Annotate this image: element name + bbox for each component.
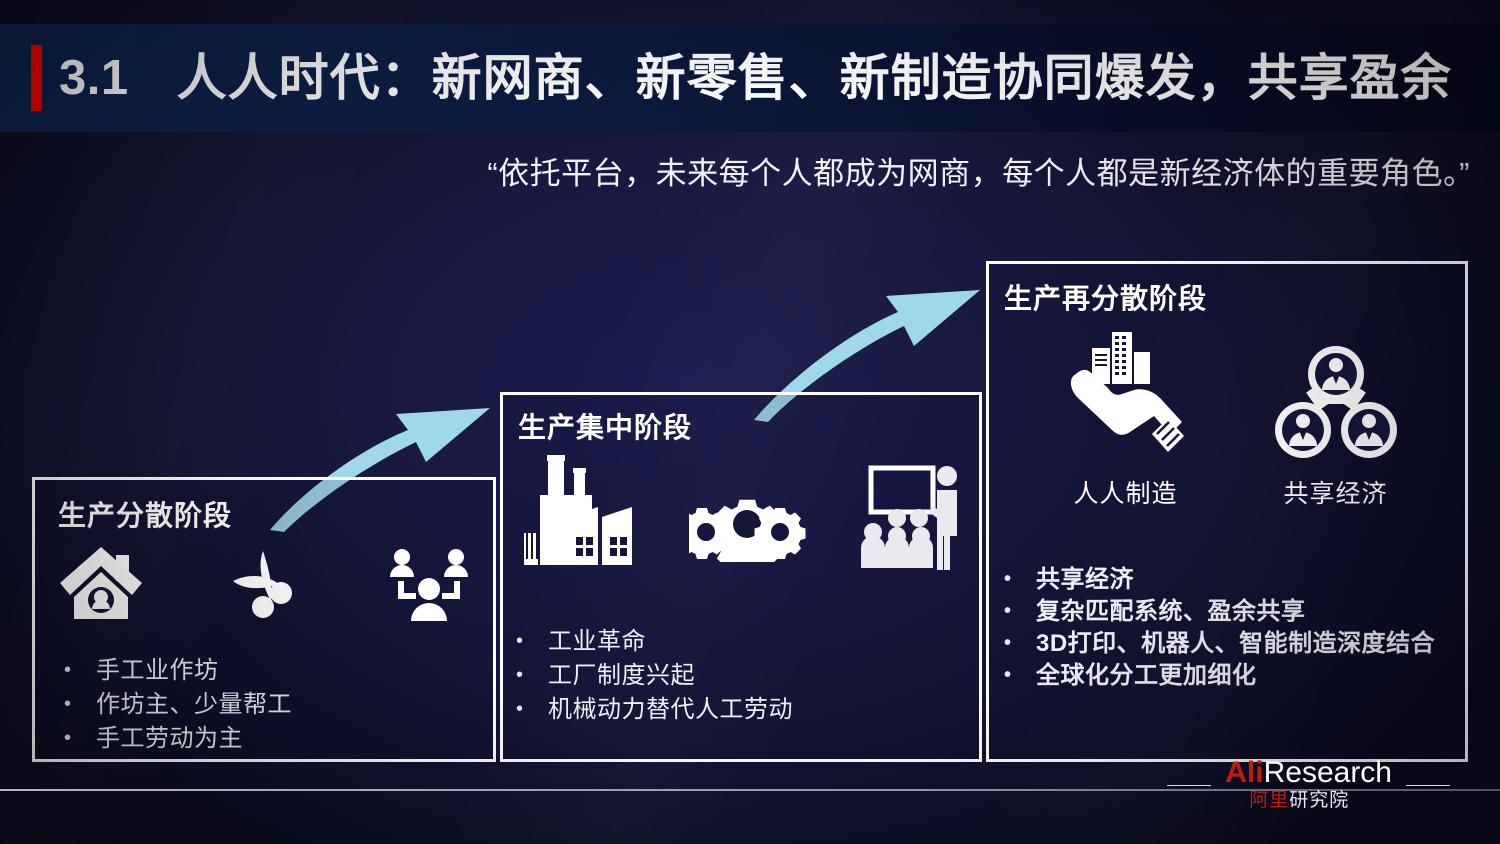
list-item: 手工业作坊 [58,654,292,688]
subtitle-quote: “依托平台，未来每个人都成为网商，每个人都是新经济体的重要角色。” [487,148,1470,193]
stage-panel-1-bullets: 手工业作坊 作坊主、少量帮工 手工劳动为主 [58,654,292,756]
logo-english: AliResearch [1225,757,1392,788]
title-row: 3.1 人人时代：新网商、新零售、新制造协同爆发，共享盈余 [0,24,1500,132]
scissors-icon [229,545,303,623]
gears-icon [689,486,807,562]
list-item: 手工劳动为主 [58,722,292,756]
section-number: 3.1 [59,54,129,103]
icon-caption: 人人制造 [1073,474,1177,510]
logo-rule-left [1167,785,1211,786]
list-item: 3D打印、机器人、智能制造深度结合 [998,628,1435,660]
logo-ali-text: Ali [1225,756,1263,789]
list-item: 复杂匹配系统、盈余共享 [998,596,1435,628]
logo-ali-cn-text: 阿里 [1249,790,1289,811]
red-accent-bar [31,45,42,111]
list-item: 工厂制度兴起 [510,659,793,693]
people-network-icon: 共享经济 [1275,344,1397,510]
stage-panel-1-icons [58,545,470,623]
list-item: 全球化分工更加细化 [998,660,1435,692]
logo-chinese: 阿里研究院 [1249,789,1392,813]
icon-caption: 共享经济 [1283,474,1387,510]
small-team-icon [388,545,470,623]
logo-rule-right [1406,785,1450,786]
stage-panel-2-bullets: 工业革命 工厂制度兴起 机械动力替代人工劳动 [510,625,793,727]
stage-panel-1-title: 生产分散阶段 [58,494,232,534]
slide-root: 3.1 人人时代：新网商、新零售、新制造协同爆发，共享盈余 “依托平台，未来每个… [0,0,1500,844]
training-presentation-icon [857,462,965,570]
stage-panel-2-icons [520,455,965,570]
logo-research-cn-text: 研究院 [1289,790,1349,811]
logo-text: AliResearch 阿里研究院 [1225,757,1392,813]
home-workshop-icon [58,545,144,623]
stage-panel-3-title: 生产再分散阶段 [1004,277,1207,317]
list-item: 工业革命 [510,625,793,659]
stage-panel-3-icons: 人人制造 [1020,330,1440,510]
stage-panel-2-title: 生产集中阶段 [518,406,692,446]
hand-holding-buildings-icon: 人人制造 [1064,330,1188,510]
logo-research-text: Research [1264,756,1392,789]
list-item: 共享经济 [998,564,1435,596]
factory-icon [520,455,638,570]
list-item: 机械动力替代人工劳动 [510,693,793,727]
ali-research-logo: AliResearch 阿里研究院 [1153,757,1464,813]
page-title: 人人时代：新网商、新零售、新制造协同爆发，共享盈余 [177,53,1452,103]
stage-panel-3-bullets: 共享经济 复杂匹配系统、盈余共享 3D打印、机器人、智能制造深度结合 全球化分工… [998,564,1435,692]
list-item: 作坊主、少量帮工 [58,688,292,722]
